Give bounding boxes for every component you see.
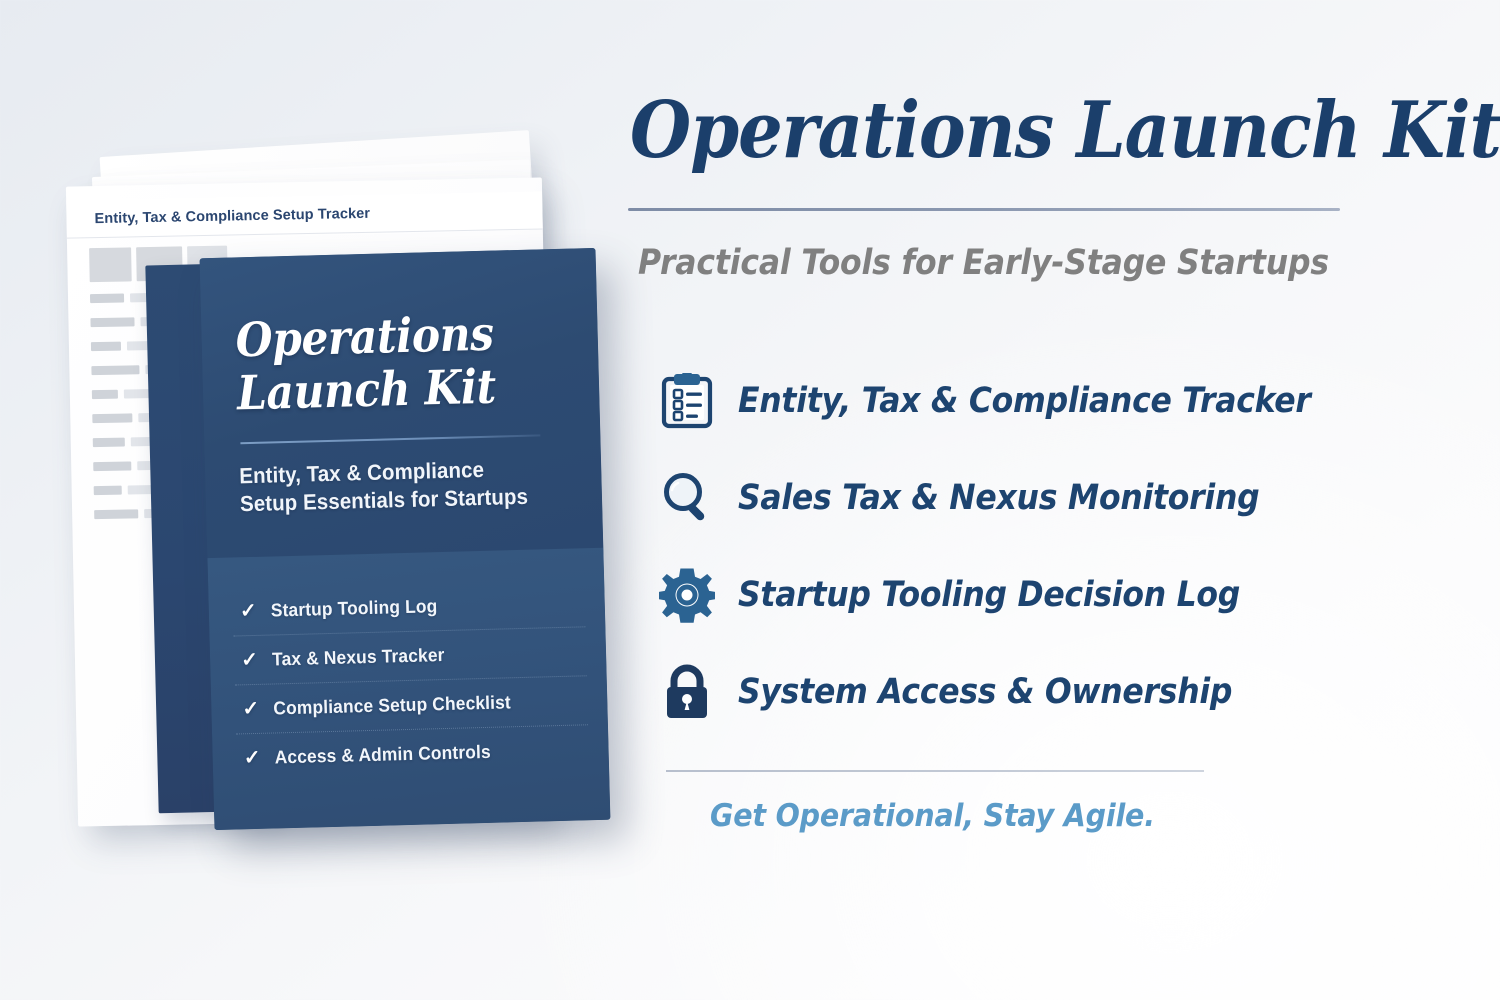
- cover-checklist: ✓ Startup Tooling Log ✓ Tax & Nexus Trac…: [232, 578, 589, 782]
- info-panel: Operations Launch Kit Practical Tools fo…: [628, 0, 1500, 1000]
- cover-checklist-label: Access & Admin Controls: [274, 741, 491, 769]
- magnifying-glass-icon: [658, 469, 716, 527]
- check-icon: ✓: [239, 601, 259, 621]
- cover-checklist-label: Startup Tooling Log: [271, 595, 438, 621]
- product-cover: Operations Launch Kit Entity, Tax & Comp…: [200, 248, 611, 830]
- tracker-document-header: Entity, Tax & Compliance Setup Tracker: [66, 191, 543, 238]
- feature-label: System Access & Ownership: [738, 672, 1232, 712]
- feature-label: Entity, Tax & Compliance Tracker: [738, 381, 1311, 421]
- feature-item-tracker: Entity, Tax & Compliance Tracker: [658, 352, 1478, 449]
- footer-divider: [666, 770, 1204, 772]
- feature-item-access: System Access & Ownership: [658, 643, 1478, 740]
- feature-item-tooling: Startup Tooling Decision Log: [658, 546, 1478, 643]
- clipboard-checklist-icon: [658, 372, 716, 430]
- page-title: Operations Launch Kit: [630, 92, 1278, 170]
- feature-list: Entity, Tax & Compliance Tracker Sales T…: [658, 352, 1478, 740]
- check-icon: ✓: [242, 748, 262, 768]
- product-mockup-stack: Entity, Tax & Compliance Setup Tracker O…: [0, 0, 640, 1000]
- cover-divider: [240, 435, 540, 444]
- tagline: Get Operational, Stay Agile.: [710, 798, 1155, 834]
- cover-checklist-label: Compliance Setup Checklist: [273, 691, 511, 719]
- cover-title-line-2: Launch Kit: [236, 360, 532, 420]
- tracker-document-title: Entity, Tax & Compliance Setup Tracker: [66, 205, 370, 227]
- list-item: ✓ Access & Admin Controls: [236, 725, 589, 782]
- cover-title: Operations Launch Kit: [235, 308, 533, 421]
- feature-label: Sales Tax & Nexus Monitoring: [738, 478, 1259, 518]
- check-icon: ✓: [240, 650, 260, 670]
- padlock-icon: [658, 663, 716, 721]
- cover-subtitle: Entity, Tax & Compliance Setup Essential…: [239, 454, 545, 519]
- cover-checklist-label: Tax & Nexus Tracker: [272, 644, 445, 671]
- page-subtitle: Practical Tools for Early-Stage Startups: [638, 243, 1329, 283]
- feature-item-nexus: Sales Tax & Nexus Monitoring: [658, 449, 1478, 546]
- title-divider: [628, 208, 1340, 211]
- feature-label: Startup Tooling Decision Log: [738, 575, 1240, 615]
- gear-icon: [658, 566, 716, 624]
- check-icon: ✓: [241, 699, 261, 719]
